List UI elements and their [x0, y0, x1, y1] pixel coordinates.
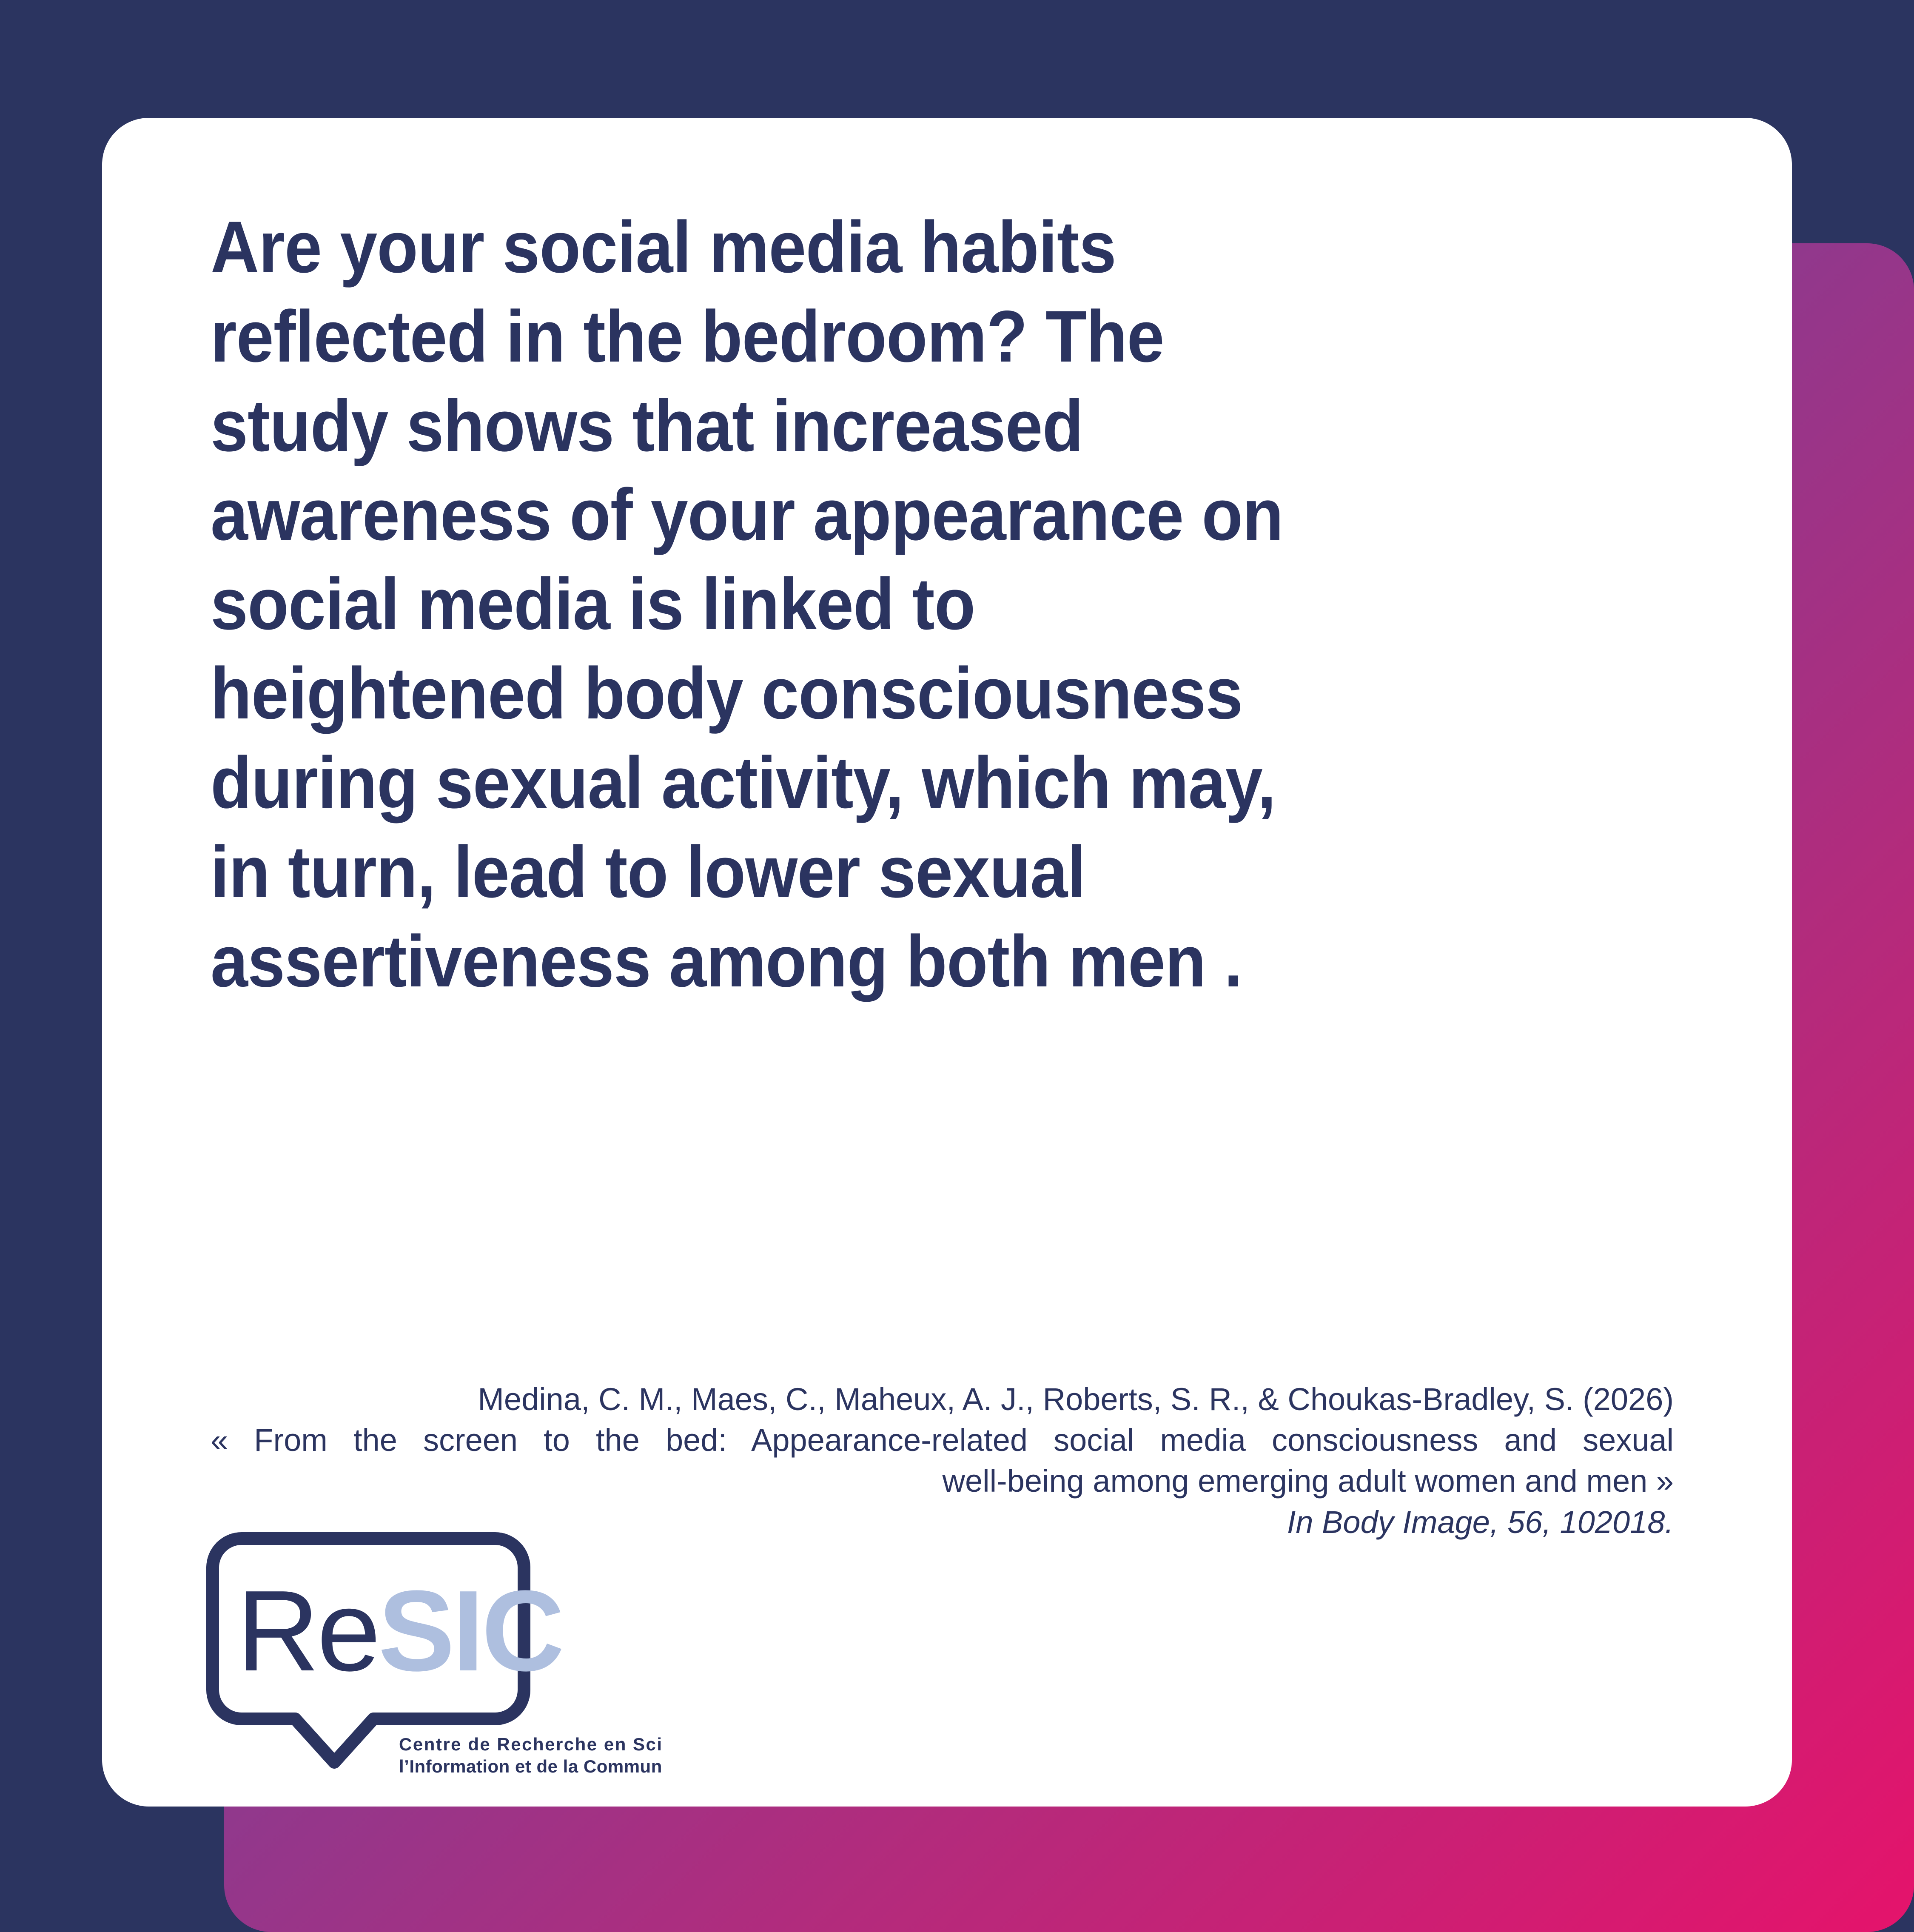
logo-word-sic: SIC	[378, 1567, 562, 1695]
heading-line-3: study shows that increased	[211, 382, 1553, 471]
logo-tagline-line-1: Centre de Recherche en Sciences de	[399, 1734, 663, 1754]
resic-logo: ReSIC Centre de Recherche en Sciences de…	[195, 1521, 663, 1784]
content-card: Are your social media habits reflected i…	[102, 118, 1792, 1807]
citation-block: Medina, C. M., Maes, C., Maheux, A. J., …	[211, 1379, 1674, 1543]
logo-tagline-line-2: l’Information et de la Communication	[399, 1756, 663, 1776]
citation-title-line-1: « From the screen to the bed: Appearance…	[211, 1420, 1674, 1461]
svg-text:ReSIC: ReSIC	[236, 1567, 562, 1695]
heading-line-4: awareness of your appearance on	[211, 470, 1553, 560]
heading-line-6: heightened body consciousness	[211, 649, 1553, 738]
heading-line-2: reflected in the bedroom? The	[211, 292, 1553, 382]
heading-line-5: social media is linked to	[211, 560, 1553, 649]
heading-line-9: assertiveness among both men .	[211, 917, 1553, 1006]
logo-word-re: Re	[236, 1567, 378, 1695]
social-card-canvas: Are your social media habits reflected i…	[0, 0, 1914, 1932]
page-title: Are your social media habits reflected i…	[211, 203, 1553, 1006]
heading-line-7: during sexual activity, which may,	[211, 738, 1553, 828]
citation-title-line-2: well-being among emerging adult women an…	[211, 1461, 1674, 1502]
citation-authors: Medina, C. M., Maes, C., Maheux, A. J., …	[211, 1379, 1674, 1420]
shadow-bevel-bottom-left	[102, 1807, 230, 1932]
heading-line-1: Are your social media habits	[211, 203, 1553, 292]
heading-line-8: in turn, lead to lower sexual	[211, 828, 1553, 917]
shadow-bevel-top-right	[1792, 118, 1914, 245]
